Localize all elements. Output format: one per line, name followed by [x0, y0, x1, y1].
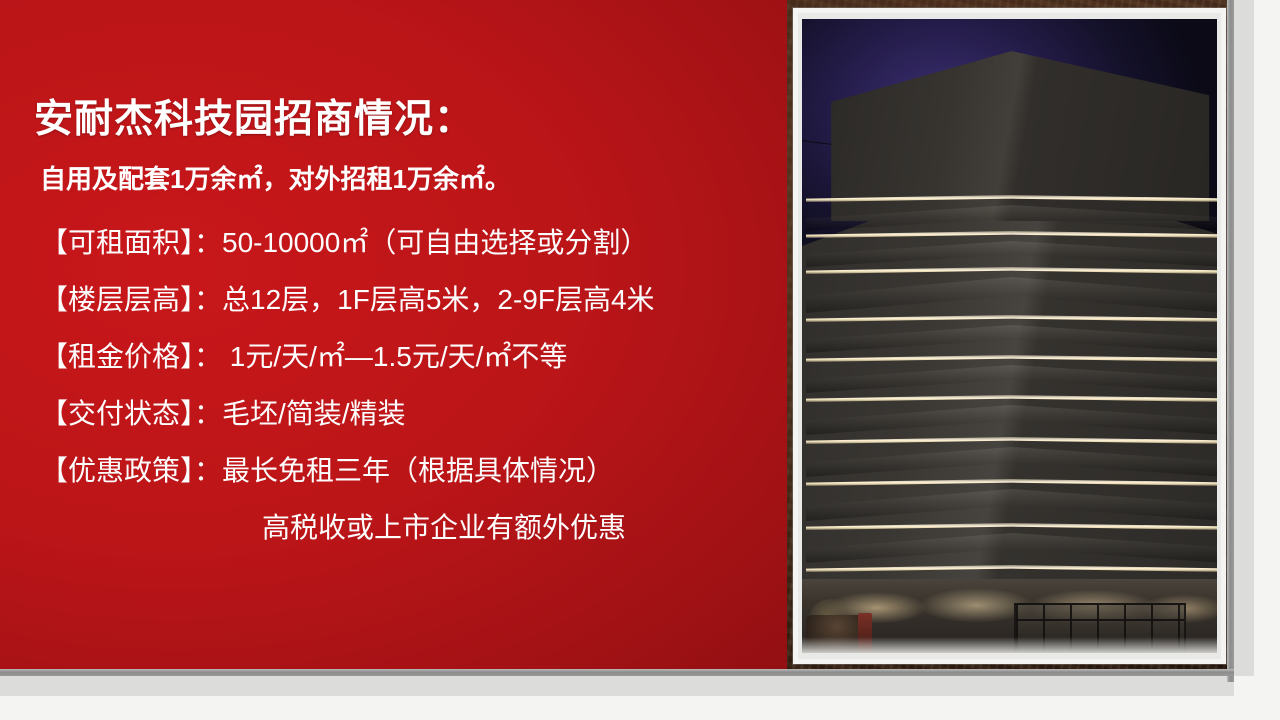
list-item: 【可租面积】：50-10000㎡（可自由选择或分割）: [40, 214, 780, 271]
list-item-continuation: 高税收或上市企业有额外优惠: [40, 499, 780, 556]
list-item: 【楼层层高】：总12层，1F层高5米，2-9F层高4米: [40, 271, 780, 328]
list-item: 【交付状态】：毛坯/简装/精装: [40, 385, 780, 442]
page-title: 安耐杰科技园招商情况：: [34, 88, 474, 144]
frame-inner-fill-bottom: [0, 676, 1234, 696]
detail-list: 【可租面积】：50-10000㎡（可自由选择或分割） 【楼层层高】：总12层，1…: [40, 214, 780, 556]
list-item: 【优惠政策】：最长免租三年（根据具体情况）: [40, 442, 780, 499]
frame-inner-fill-right: [1234, 0, 1254, 676]
photo-bottom-fade: [802, 637, 1217, 653]
page-subtitle: 自用及配套1万余㎡，对外招租1万余㎡。: [40, 159, 511, 196]
building-night-photo: [802, 19, 1217, 653]
list-item: 【租金价格】： 1元/天/㎡—1.5元/天/㎡不等: [40, 328, 780, 385]
red-content-panel: 安耐杰科技园招商情况： 自用及配套1万余㎡，对外招租1万余㎡。 【可租面积】：5…: [0, 0, 787, 669]
frame-divider-vertical: [1227, 0, 1234, 682]
frame-divider-horizontal: [0, 669, 1234, 676]
presentation-slide: 安耐杰科技园招商情况： 自用及配套1万余㎡，对外招租1万余㎡。 【可租面积】：5…: [0, 0, 1280, 720]
